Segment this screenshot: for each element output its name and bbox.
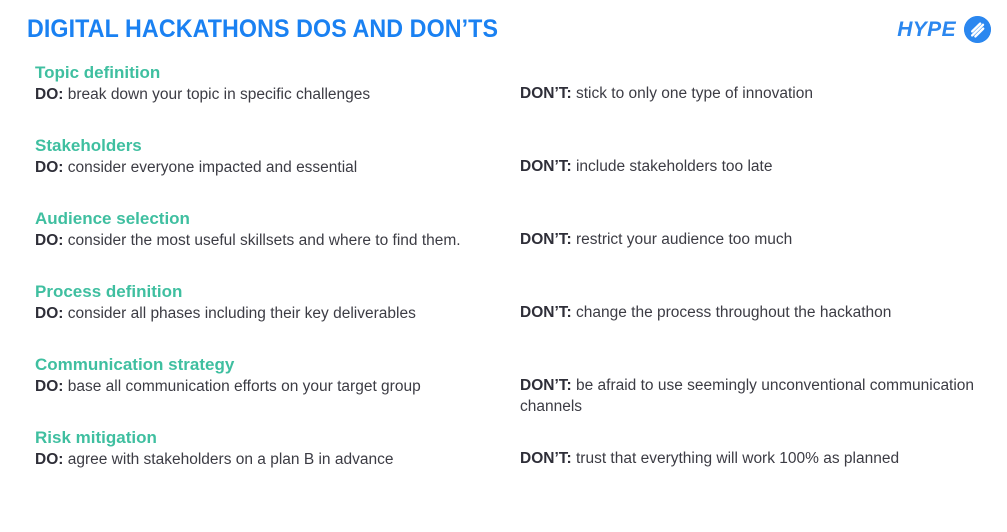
dont-text: change the process throughout the hackat… — [576, 304, 891, 321]
do-item: DO: consider all phases including their … — [35, 303, 505, 324]
dont-text: stick to only one type of innovation — [576, 85, 813, 102]
dont-column: DON’T: change the process throughout the… — [520, 302, 990, 323]
dos-and-donts-list: Topic definition DO: break down your top… — [0, 62, 1007, 500]
dont-item: DON’T: stick to only one type of innovat… — [520, 83, 990, 104]
dont-column: DON’T: include stakeholders too late — [520, 156, 990, 177]
dont-label: DON’T: — [520, 158, 572, 175]
do-item: DO: consider the most useful skillsets a… — [35, 230, 505, 251]
do-column: Process definition DO: consider all phas… — [35, 281, 505, 324]
do-label: DO: — [35, 305, 63, 322]
dont-item: DON’T: be afraid to use seemingly unconv… — [520, 375, 990, 417]
do-item: DO: agree with stakeholders on a plan B … — [35, 449, 505, 470]
dont-label: DON’T: — [520, 85, 572, 102]
do-item: DO: break down your topic in specific ch… — [35, 84, 505, 105]
section-row: Risk mitigation DO: agree with stakehold… — [0, 427, 1007, 500]
section-heading: Process definition — [35, 281, 505, 302]
do-label: DO: — [35, 159, 63, 176]
do-column: Stakeholders DO: consider everyone impac… — [35, 135, 505, 178]
dont-label: DON’T: — [520, 304, 572, 321]
dont-column: DON’T: trust that everything will work 1… — [520, 448, 990, 469]
section-heading: Stakeholders — [35, 135, 505, 156]
do-column: Communication strategy DO: base all comm… — [35, 354, 505, 397]
dont-text: restrict your audience too much — [576, 231, 792, 248]
dont-item: DON’T: change the process throughout the… — [520, 302, 990, 323]
section-row: Audience selection DO: consider the most… — [0, 208, 1007, 281]
do-text: consider everyone impacted and essential — [68, 159, 358, 176]
section-row: Stakeholders DO: consider everyone impac… — [0, 135, 1007, 208]
section-heading: Audience selection — [35, 208, 505, 229]
brand-logo: HYPE — [897, 14, 991, 44]
do-text: break down your topic in specific challe… — [68, 86, 370, 103]
page-title: DIGITAL HACKATHONS DOS AND DON’TS — [27, 15, 498, 44]
section-heading: Communication strategy — [35, 354, 505, 375]
do-label: DO: — [35, 451, 63, 468]
dont-item: DON’T: include stakeholders too late — [520, 156, 990, 177]
dont-column: DON’T: stick to only one type of innovat… — [520, 83, 990, 104]
dont-label: DON’T: — [520, 450, 572, 467]
do-text: agree with stakeholders on a plan B in a… — [68, 451, 394, 468]
dont-item: DON’T: trust that everything will work 1… — [520, 448, 990, 469]
do-column: Audience selection DO: consider the most… — [35, 208, 505, 251]
section-row: Topic definition DO: break down your top… — [0, 62, 1007, 135]
do-label: DO: — [35, 232, 63, 249]
do-text: consider the most useful skillsets and w… — [68, 232, 461, 249]
dont-column: DON’T: be afraid to use seemingly unconv… — [520, 375, 990, 417]
do-item: DO: consider everyone impacted and essen… — [35, 157, 505, 178]
dont-column: DON’T: restrict your audience too much — [520, 229, 990, 250]
page-header: DIGITAL HACKATHONS DOS AND DON’TS HYPE — [0, 0, 1007, 62]
do-text: consider all phases including their key … — [68, 305, 416, 322]
dont-text: include stakeholders too late — [576, 158, 772, 175]
do-column: Topic definition DO: break down your top… — [35, 62, 505, 105]
do-column: Risk mitigation DO: agree with stakehold… — [35, 427, 505, 470]
slide-page: DIGITAL HACKATHONS DOS AND DON’TS HYPE T… — [0, 0, 1007, 532]
section-heading: Risk mitigation — [35, 427, 505, 448]
section-row: Process definition DO: consider all phas… — [0, 281, 1007, 354]
do-item: DO: base all communication efforts on yo… — [35, 376, 505, 397]
dont-label: DON’T: — [520, 377, 572, 394]
do-text: base all communication efforts on your t… — [68, 378, 421, 395]
dont-text: trust that everything will work 100% as … — [576, 450, 899, 467]
do-label: DO: — [35, 378, 63, 395]
section-heading: Topic definition — [35, 62, 505, 83]
brand-wordmark: HYPE — [897, 19, 956, 40]
dont-label: DON’T: — [520, 231, 572, 248]
dont-text: be afraid to use seemingly unconventiona… — [520, 377, 974, 415]
section-row: Communication strategy DO: base all comm… — [0, 354, 1007, 427]
dont-item: DON’T: restrict your audience too much — [520, 229, 990, 250]
hype-circle-slashes-icon — [964, 16, 991, 43]
do-label: DO: — [35, 86, 63, 103]
